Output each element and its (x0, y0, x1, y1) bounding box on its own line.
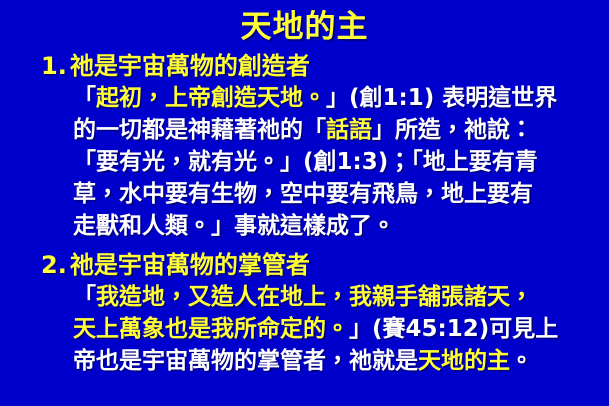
section-2-line-3-part-3: 。 (510, 348, 533, 374)
slide-body: 1.祂是宇宙萬物的創造者 「起初，上帝創造天地。」(創1:1) 表明這世界的一切… (0, 50, 609, 377)
section-1-paragraph: 「起初，上帝創造天地。」(創1:1) 表明這世界的一切都是神藉著祂的「話語」所造… (0, 82, 609, 242)
section-2-line-3: 帝也是宇宙萬物的掌管者，祂就是天地的主。 (73, 345, 581, 377)
section-1-line-2: 的一切都是神藉著祂的「話語」所造，祂說： (73, 114, 581, 146)
section-2-heading: 2.祂是宇宙萬物的掌管者 (0, 249, 609, 281)
section-2-number: 2. (41, 251, 67, 279)
quote-open-bracket-2: 「 (73, 284, 96, 310)
scripture-reference-isa45-12: 」(賽45:12)可見上 (349, 316, 558, 342)
section-1-line-1: 「起初，上帝創造天地。」(創1:1) 表明這世界 (73, 82, 581, 114)
scripture-quote-isa45-12-part-2: 天上萬象也是我所命定的。 (73, 316, 349, 342)
section-2-line-3-part-1: 帝也是宇宙萬物的掌管者，祂就是 (73, 348, 418, 374)
section-1: 1.祂是宇宙萬物的創造者 「起初，上帝創造天地。」(創1:1) 表明這世界的一切… (0, 50, 609, 242)
section-1-line-3-text: 「要有光，就有光。」(創1:3)；「地上要有青 (73, 149, 538, 175)
highlight-phrase-lord-of-heaven-and-earth: 天地的主 (418, 348, 510, 374)
section-1-line-2-part-3: 」所造，祂說： (372, 117, 533, 143)
section-2: 2.祂是宇宙萬物的掌管者 「我造地，又造人在地上，我親手舖張諸天，天上萬象也是我… (0, 249, 609, 377)
section-2-line-1: 「我造地，又造人在地上，我親手舖張諸天， (73, 281, 581, 313)
section-2-line-2: 天上萬象也是我所命定的。」(賽45:12)可見上 (73, 313, 581, 345)
section-2-heading-text: 祂是宇宙萬物的掌管者 (70, 251, 310, 279)
section-1-heading-text: 祂是宇宙萬物的創造者 (70, 52, 310, 80)
slide-title: 天地的主 (0, 8, 609, 46)
section-1-line-4: 草，水中要有生物，空中要有飛鳥，地上要有 (73, 178, 581, 210)
section-1-line-2-part-1: 的一切都是神藉著祂的「 (73, 117, 326, 143)
section-1-number: 1. (41, 52, 67, 80)
scripture-quote-isa45-12-part-1: 我造地，又造人在地上，我親手舖張諸天， (96, 284, 533, 310)
section-2-paragraph: 「我造地，又造人在地上，我親手舖張諸天，天上萬象也是我所命定的。」(賽45:12… (0, 281, 609, 377)
scripture-quote-gen1-1: 起初，上帝創造天地。 (96, 85, 326, 111)
highlight-word-huayu: 話語 (326, 117, 372, 143)
scripture-reference-gen1-1: 」(創1:1) 表明這世界 (326, 85, 557, 111)
quote-open-bracket: 「 (73, 85, 96, 111)
presentation-slide: 天地的主 1.祂是宇宙萬物的創造者 「起初，上帝創造天地。」(創1:1) 表明這… (0, 0, 609, 406)
section-1-line-3: 「要有光，就有光。」(創1:3)；「地上要有青 (73, 146, 581, 178)
section-1-heading: 1.祂是宇宙萬物的創造者 (0, 50, 609, 82)
section-1-line-5-text: 走獸和人類。」事就這樣成了。 (73, 213, 395, 239)
section-1-line-5: 走獸和人類。」事就這樣成了。 (73, 210, 581, 242)
section-1-line-4-text: 草，水中要有生物，空中要有飛鳥，地上要有 (73, 181, 533, 207)
